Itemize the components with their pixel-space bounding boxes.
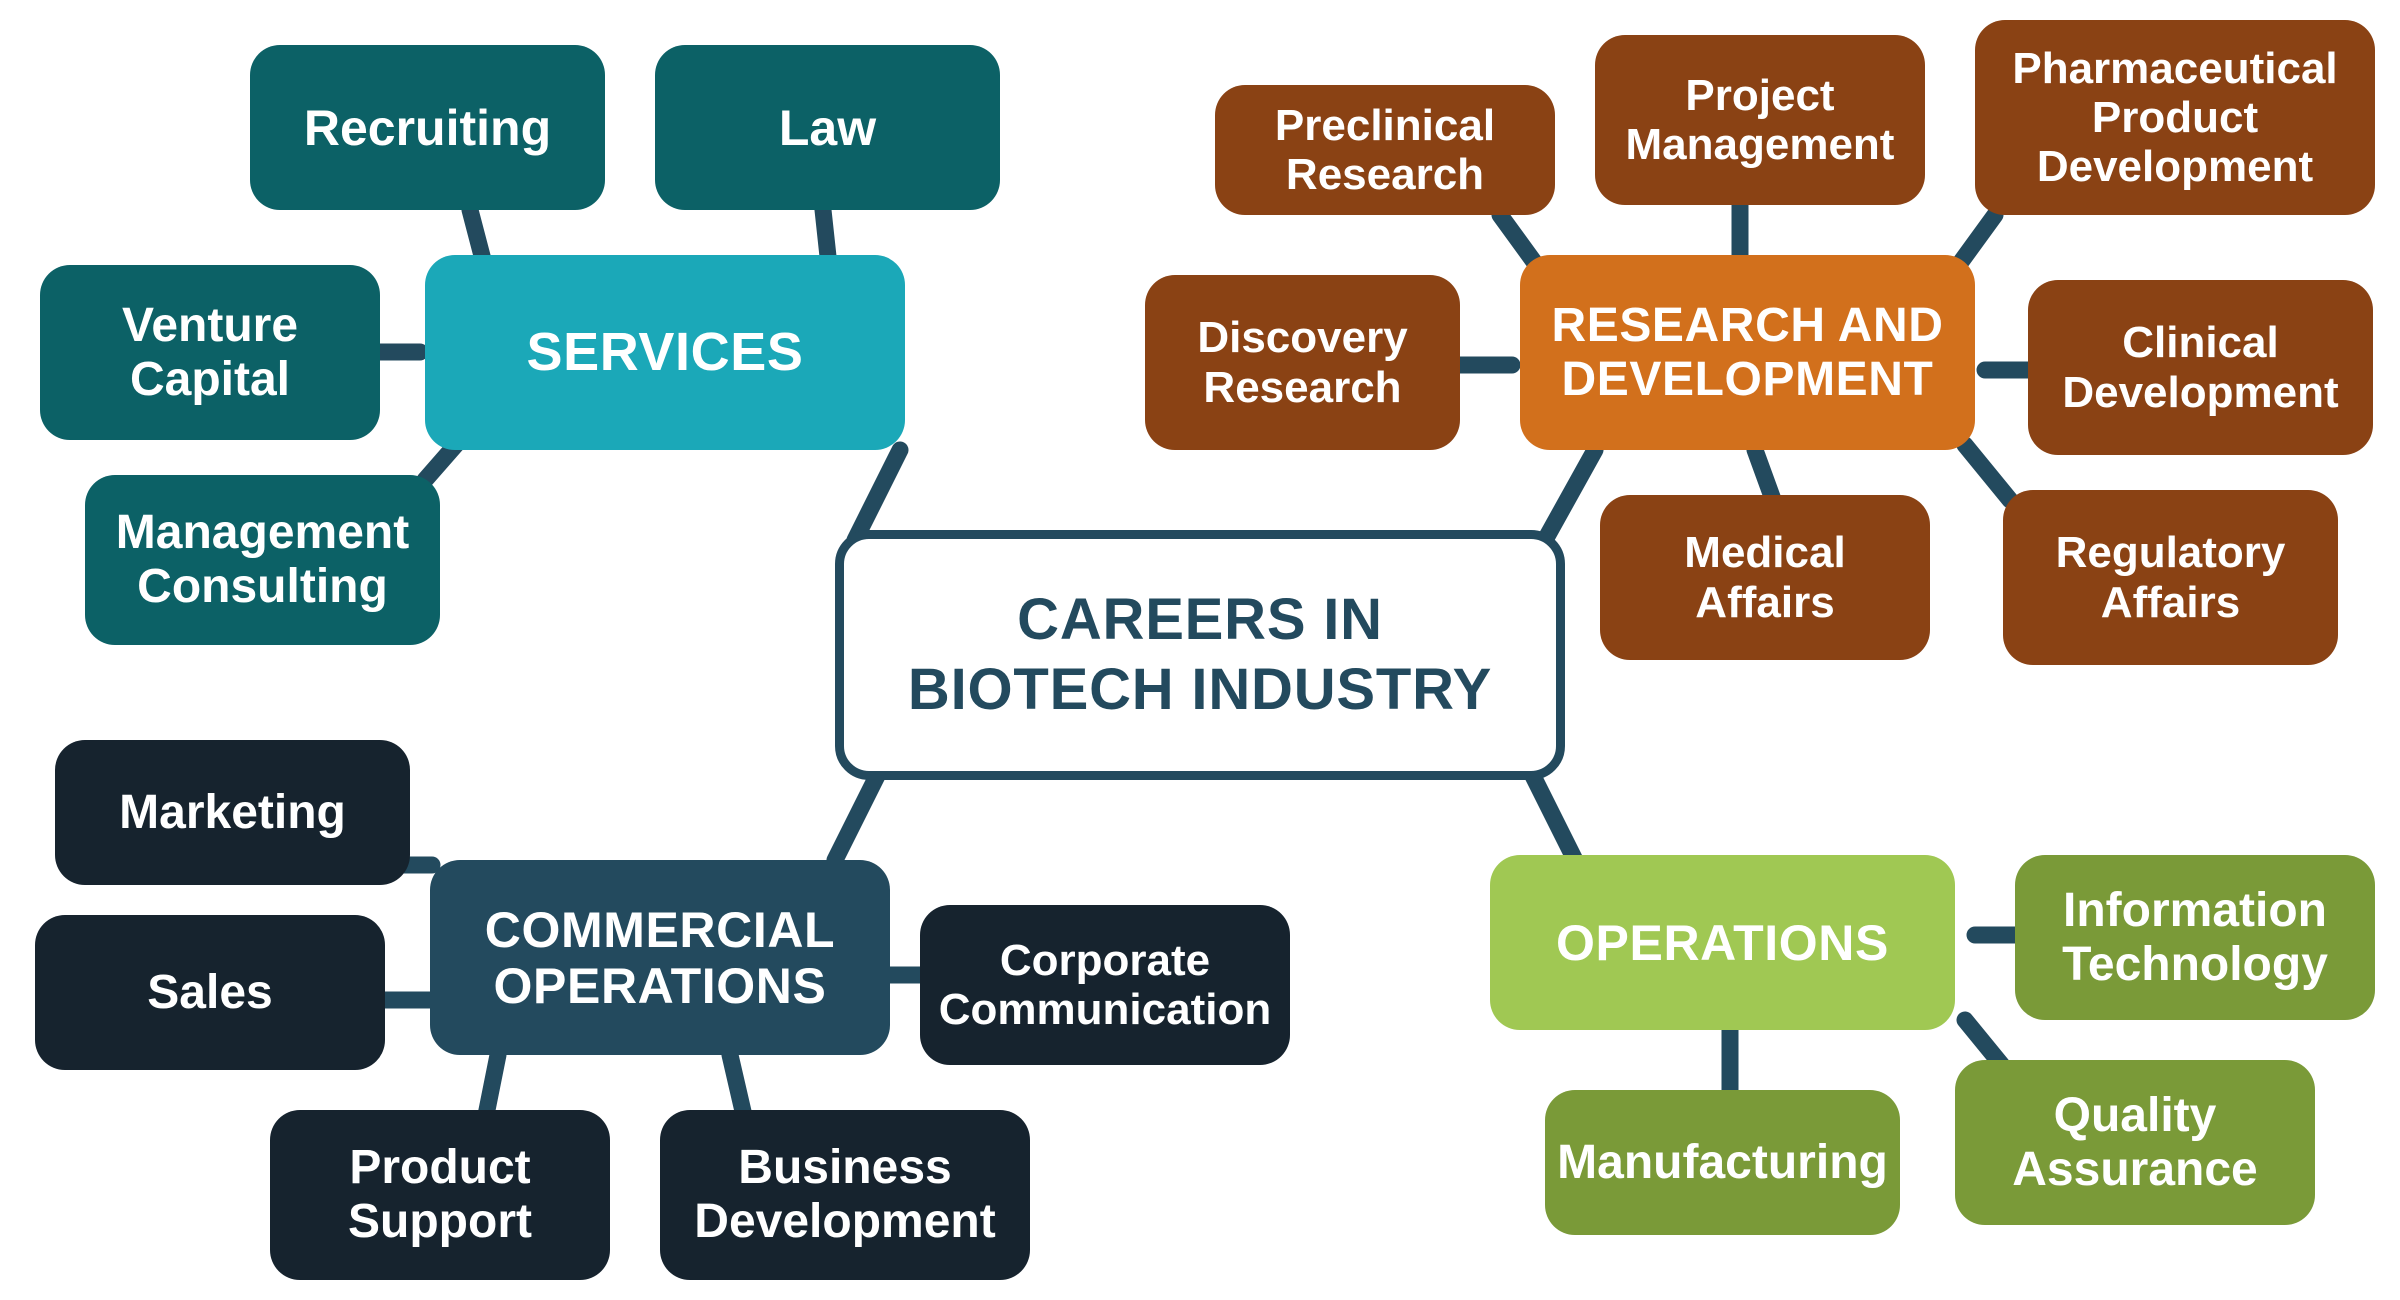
leaf-sales[interactable]: Sales: [35, 915, 385, 1070]
leaf-product-support[interactable]: Product Support: [270, 1110, 610, 1280]
leaf-law[interactable]: Law: [655, 45, 1000, 210]
leaf-pharmaceutical-product-development[interactable]: Pharmaceutical Product Development: [1975, 20, 2375, 215]
hub-services[interactable]: SERVICES: [425, 255, 905, 450]
mindmap-canvas: CAREERS IN BIOTECH INDUSTRY SERVICES Rec…: [0, 0, 2400, 1300]
leaf-corporate-communication[interactable]: Corporate Communication: [920, 905, 1290, 1065]
edge-center-to-operations: [1530, 770, 1575, 860]
leaf-recruiting[interactable]: Recruiting: [250, 45, 605, 210]
leaf-discovery-research[interactable]: Discovery Research: [1145, 275, 1460, 450]
leaf-regulatory-affairs[interactable]: Regulatory Affairs: [2003, 490, 2338, 665]
leaf-venture-capital[interactable]: Venture Capital: [40, 265, 380, 440]
leaf-quality-assurance[interactable]: Quality Assurance: [1955, 1060, 2315, 1225]
leaf-medical-affairs[interactable]: Medical Affairs: [1600, 495, 1930, 660]
leaf-project-management[interactable]: Project Management: [1595, 35, 1925, 205]
leaf-preclinical-research[interactable]: Preclinical Research: [1215, 85, 1555, 215]
edge-center-to-commercial: [835, 770, 880, 860]
leaf-management-consulting[interactable]: Management Consulting: [85, 475, 440, 645]
leaf-business-development[interactable]: Business Development: [660, 1110, 1030, 1280]
edge-center-to-rnd: [1545, 450, 1595, 540]
leaf-clinical-development[interactable]: Clinical Development: [2028, 280, 2373, 455]
center-node[interactable]: CAREERS IN BIOTECH INDUSTRY: [835, 530, 1565, 780]
leaf-information-technology[interactable]: Information Technology: [2015, 855, 2375, 1020]
hub-research-and-development[interactable]: RESEARCH AND DEVELOPMENT: [1520, 255, 1975, 450]
edge-rnd-to-regulatory-affairs: [1965, 445, 2010, 500]
hub-commercial-operations[interactable]: COMMERCIAL OPERATIONS: [430, 860, 890, 1055]
leaf-marketing[interactable]: Marketing: [55, 740, 410, 885]
hub-operations[interactable]: OPERATIONS: [1490, 855, 1955, 1030]
leaf-manufacturing[interactable]: Manufacturing: [1545, 1090, 1900, 1235]
edge-center-to-services: [855, 450, 900, 540]
